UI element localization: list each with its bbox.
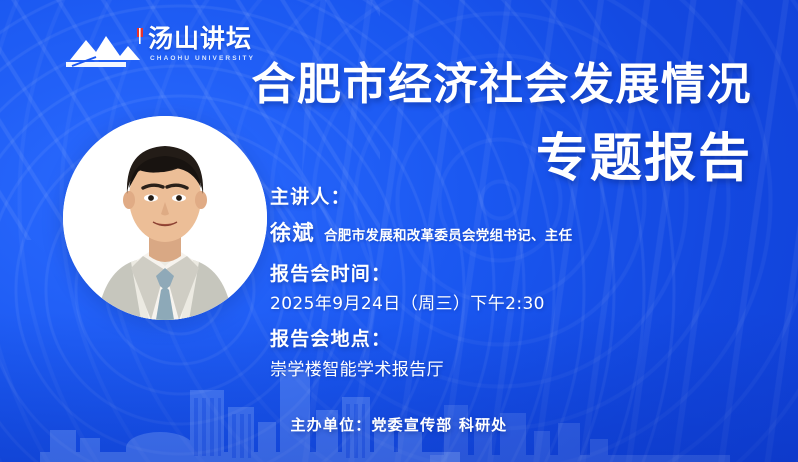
brand-logo: 汤山讲坛 CHAOHU UNIVERSITY xyxy=(66,24,238,74)
headline-line-2: 专题报告 xyxy=(536,133,752,185)
headline-line-1: 合肥市经济社会发展情况 xyxy=(252,63,753,107)
logo-name-cn: 汤山讲坛 xyxy=(148,26,252,51)
mountain-logo-icon xyxy=(66,26,152,70)
time-label: 报告会时间： xyxy=(270,263,700,286)
speaker-name: 徐斌 xyxy=(270,217,315,247)
organizer-line: 主办单位：党委宣传部 科研处 xyxy=(0,414,798,435)
place-label: 报告会地点： xyxy=(270,328,700,351)
logo-name-en: CHAOHU UNIVERSITY xyxy=(150,55,255,62)
portrait-illustration-icon xyxy=(63,116,267,320)
speaker-portrait xyxy=(63,116,267,320)
speaker-row: 徐斌 合肥市发展和改革委员会党组书记、主任 xyxy=(270,217,700,247)
event-details: 主讲人： 徐斌 合肥市发展和改革委员会党组书记、主任 报告会时间： 2025年9… xyxy=(270,186,700,380)
speaker-title: 合肥市发展和改革委员会党组书记、主任 xyxy=(324,224,572,244)
lecture-poster: 汤山讲坛 CHAOHU UNIVERSITY xyxy=(0,0,798,462)
place-value: 崇学楼智能学术报告厅 xyxy=(270,360,700,380)
speaker-label: 主讲人： xyxy=(270,186,700,209)
time-value: 2025年9月24日（周三）下午2:30 xyxy=(270,294,700,314)
